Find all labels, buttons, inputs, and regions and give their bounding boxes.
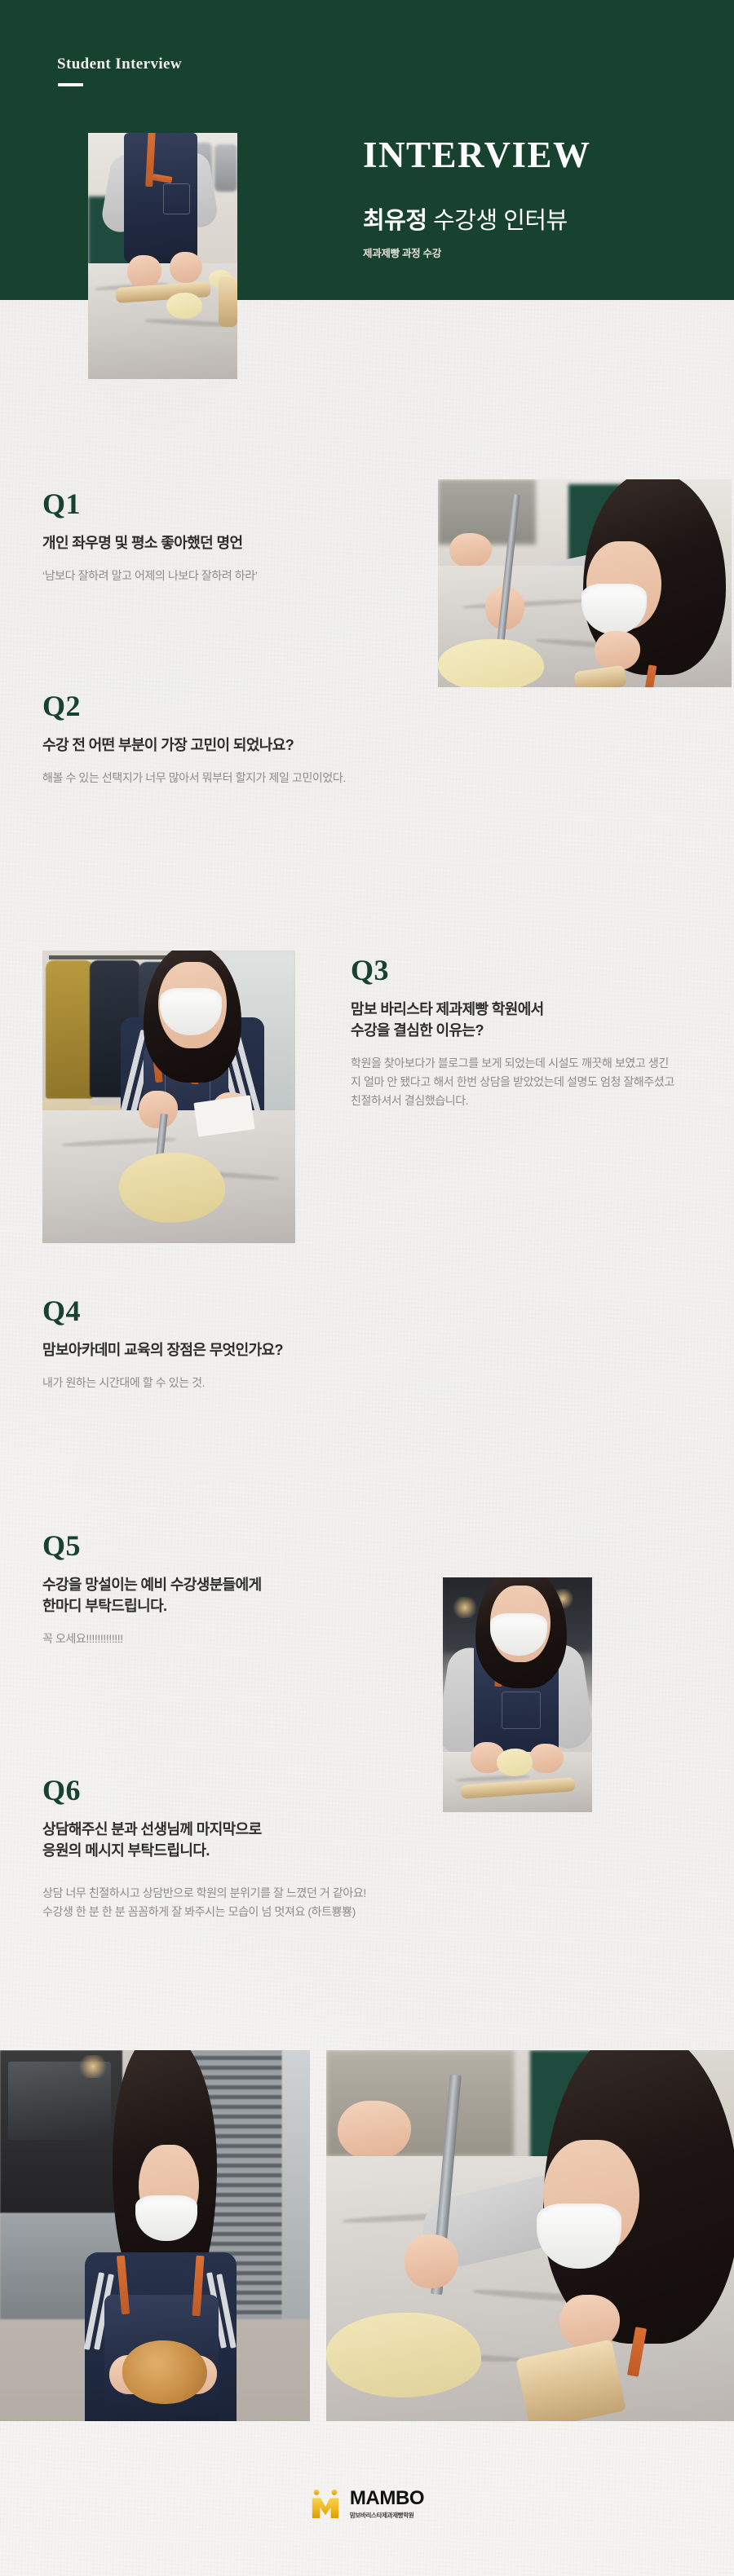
- question-title-q6: 상담해주신 분과 선생님께 마지막으로 응원의 메시지 부탁드립니다.: [42, 1819, 564, 1861]
- question-title-q3-line1: 맘보 바리스타 제과제빵 학원에서: [351, 999, 693, 1020]
- logo-wordmark: MAMBO: [350, 2489, 424, 2508]
- question-block-q6: Q6 상담해주신 분과 선생님께 마지막으로 응원의 메시지 부탁드립니다. 상…: [42, 1775, 564, 1921]
- question-number-q4: Q4: [42, 1296, 499, 1325]
- question-answer-q1: ‘남보다 잘하려 말고 어제의 나보다 잘하려 하라’: [42, 567, 418, 585]
- photo-q3: [42, 951, 295, 1243]
- hero-photo: [88, 133, 237, 379]
- eyebrow-label: Student Interview: [57, 55, 182, 73]
- question-number-q3: Q3: [351, 955, 693, 985]
- header-copy: INTERVIEW 최유정 수강생 인터뷰 제과제빵 과정 수강: [363, 137, 705, 260]
- question-title-q5: 수강을 망설이는 예비 수강생분들에게 한마디 부탁드립니다.: [42, 1574, 418, 1617]
- question-answer-q2: 해볼 수 있는 선택지가 너무 많아서 뭐부터 할지가 제일 고민이었다.: [42, 769, 548, 787]
- footer-logo: MAMBO 맘보바리스타제과제빵학원: [0, 2489, 734, 2520]
- eyebrow-underline: [58, 83, 83, 86]
- question-block-q4: Q4 맘보아카데미 교육의 장점은 무엇인가요? 내가 원하는 시간대에 할 수…: [42, 1296, 499, 1392]
- interview-title: INTERVIEW: [363, 137, 705, 174]
- question-answer-q3: 학원을 찾아보다가 블로그를 보게 되었는데 시설도 깨끗해 보였고 생긴지 얼…: [351, 1054, 677, 1110]
- question-block-q5: Q5 수강을 망설이는 예비 수강생분들에게 한마디 부탁드립니다. 꼭 오세요…: [42, 1531, 418, 1648]
- question-answer-q4: 내가 원하는 시간대에 할 수 있는 것.: [42, 1374, 499, 1392]
- question-number-q5: Q5: [42, 1531, 418, 1560]
- question-answer-q6-line1: 상담 너무 친절하시고 상담반으로 학원의 분위기를 잘 느꼈던 거 같아요!: [42, 1884, 564, 1903]
- question-block-q1: Q1 개인 좌우명 및 평소 좋아했던 명언 ‘남보다 잘하려 말고 어제의 나…: [42, 489, 418, 585]
- question-answer-q5: 꼭 오세요!!!!!!!!!!!!!: [42, 1630, 418, 1648]
- mambo-m-icon: [310, 2489, 341, 2520]
- question-title-q5-line1: 수강을 망설이는 예비 수강생분들에게: [42, 1574, 418, 1595]
- student-name-suffix: 수강생 인터뷰: [427, 208, 568, 234]
- question-title-q2: 수강 전 어떤 부분이 가장 고민이 되었나요?: [42, 734, 548, 756]
- question-block-q3: Q3 맘보 바리스타 제과제빵 학원에서 수강을 결심한 이유는? 학원을 찾아…: [351, 955, 693, 1110]
- question-number-q2: Q2: [42, 691, 548, 721]
- question-number-q1: Q1: [42, 489, 418, 518]
- question-answer-q6-line2: 수강생 한 분 한 분 꼼꼼하게 잘 봐주시는 모습이 넘 멋져요 (하트뿅뿅): [42, 1903, 564, 1921]
- question-title-q3-line2: 수강을 결심한 이유는?: [351, 1020, 693, 1041]
- question-title-q6-line1: 상담해주신 분과 선생님께 마지막으로: [42, 1819, 564, 1840]
- question-number-q6: Q6: [42, 1775, 564, 1805]
- question-answer-q6: 상담 너무 친절하시고 상담반으로 학원의 분위기를 잘 느꼈던 거 같아요! …: [42, 1884, 564, 1921]
- question-title-q4: 맘보아카데미 교육의 장점은 무엇인가요?: [42, 1339, 499, 1361]
- gallery-photo-2: [326, 2050, 734, 2421]
- question-title-q3: 맘보 바리스타 제과제빵 학원에서 수강을 결심한 이유는?: [351, 999, 693, 1041]
- question-title-q5-line2: 한마디 부탁드립니다.: [42, 1595, 418, 1617]
- logo-subtitle: 맘보바리스타제과제빵학원: [350, 2511, 414, 2520]
- question-block-q2: Q2 수강 전 어떤 부분이 가장 고민이 되었나요? 해볼 수 있는 선택지가…: [42, 691, 548, 787]
- course-label: 제과제빵 과정 수강: [363, 245, 705, 260]
- gallery-photo-1: [0, 2050, 310, 2421]
- student-name: 최유정: [363, 208, 427, 234]
- question-title-q1: 개인 좌우명 및 평소 좋아했던 명언: [42, 532, 418, 554]
- photo-q1: [438, 479, 732, 687]
- question-title-q6-line2: 응원의 메시지 부탁드립니다.: [42, 1840, 564, 1861]
- student-name-line: 최유정 수강생 인터뷰: [363, 208, 705, 235]
